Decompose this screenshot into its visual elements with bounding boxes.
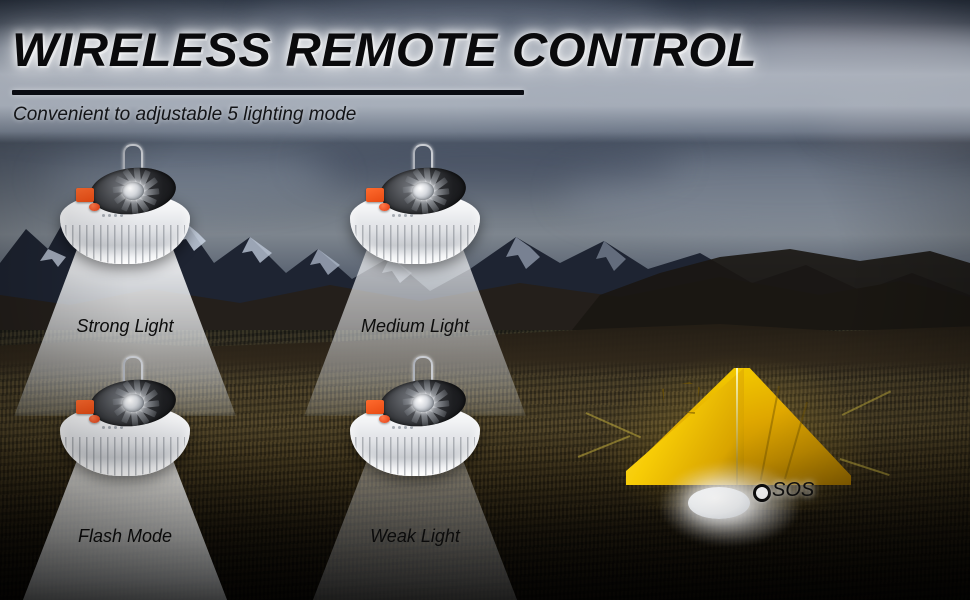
mode-button[interactable] bbox=[379, 415, 390, 423]
power-button[interactable] bbox=[76, 188, 94, 202]
solar-lamp-flash[interactable] bbox=[60, 382, 190, 478]
sos-marker-icon bbox=[753, 484, 771, 502]
mode-button[interactable] bbox=[89, 415, 100, 423]
led-indicator bbox=[410, 426, 413, 429]
led-indicator bbox=[392, 214, 395, 217]
led-row bbox=[392, 426, 413, 429]
led-row bbox=[102, 214, 123, 217]
product-feature-banner: Strong Light Medium Light Flash Mode bbox=[0, 0, 970, 600]
lamp-fins bbox=[65, 225, 185, 264]
lamp-fins bbox=[355, 437, 475, 476]
sos-lamp bbox=[688, 487, 750, 519]
led-indicator bbox=[108, 214, 111, 217]
led-indicator bbox=[120, 426, 123, 429]
lamp-fins bbox=[355, 225, 475, 264]
solar-panel bbox=[88, 164, 178, 219]
title-divider bbox=[12, 90, 524, 95]
lamp-fins bbox=[65, 437, 185, 476]
solar-panel bbox=[88, 376, 178, 431]
mode-button[interactable] bbox=[379, 203, 390, 211]
solar-lamp-medium[interactable] bbox=[350, 170, 480, 266]
power-button[interactable] bbox=[366, 400, 384, 414]
power-button[interactable] bbox=[366, 188, 384, 202]
led-indicator bbox=[102, 214, 105, 217]
led-row bbox=[392, 214, 413, 217]
led-indicator bbox=[108, 426, 111, 429]
led-row bbox=[102, 426, 123, 429]
led-indicator bbox=[398, 426, 401, 429]
solar-panel bbox=[378, 164, 468, 219]
solar-lamp-weak[interactable] bbox=[350, 382, 480, 478]
led-indicator bbox=[404, 214, 407, 217]
led-indicator bbox=[102, 426, 105, 429]
led-indicator bbox=[114, 426, 117, 429]
page-title: WIRELESS REMOTE CONTROL bbox=[12, 22, 757, 77]
led-indicator bbox=[410, 214, 413, 217]
page-subtitle: Convenient to adjustable 5 lighting mode bbox=[13, 104, 356, 126]
power-button[interactable] bbox=[76, 400, 94, 414]
led-indicator bbox=[120, 214, 123, 217]
led-indicator bbox=[114, 214, 117, 217]
mode-button[interactable] bbox=[89, 203, 100, 211]
led-indicator bbox=[392, 426, 395, 429]
led-indicator bbox=[398, 214, 401, 217]
solar-lamp-strong[interactable] bbox=[60, 170, 190, 266]
solar-panel bbox=[378, 376, 468, 431]
led-indicator bbox=[404, 426, 407, 429]
sos-label: SOS bbox=[772, 479, 814, 502]
